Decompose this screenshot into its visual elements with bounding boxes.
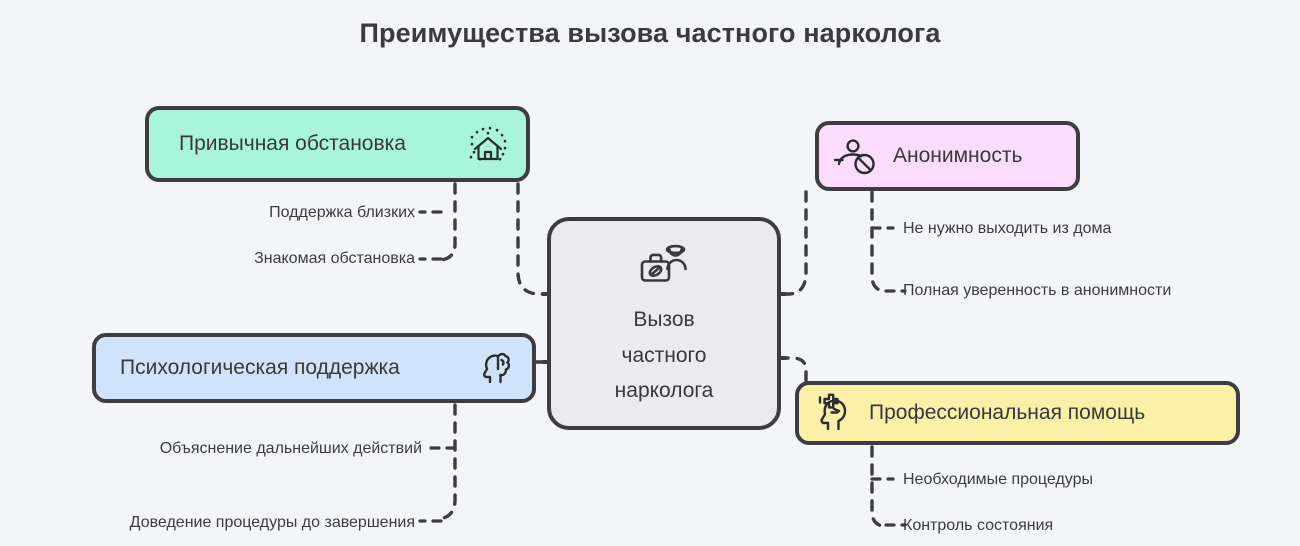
house-sparkle-icon: [466, 122, 510, 166]
leaf-habitual-2: Знакомая обстановка: [60, 249, 415, 268]
central-label-line2: частного: [622, 341, 707, 371]
leaf-psych-2: Доведение процедуры до завершения: [20, 513, 415, 532]
connector-prof-to-center: [780, 358, 806, 381]
connector-habitual-leaves: [441, 184, 455, 260]
branch-node-prof[interactable]: Профессиональная помощь: [795, 381, 1240, 445]
branch-node-anonymity[interactable]: Анонимность: [815, 121, 1080, 191]
leaf-anonymity-1: Не нужно выходить из дома: [903, 219, 1111, 238]
leaf-prof-1: Необходимые процедуры: [903, 470, 1093, 489]
connector-prof-leaves: [872, 447, 886, 527]
branch-label-anonymity: Анонимность: [893, 144, 1022, 167]
leaf-habitual-1: Поддержка близких: [60, 203, 415, 222]
branch-label-prof: Профессиональная помощь: [869, 401, 1145, 424]
branch-label-habitual: Привычная обстановка: [179, 132, 406, 155]
branch-label-psych: Психологическая поддержка: [120, 356, 400, 379]
head-medical-cross-icon: [811, 392, 857, 434]
page-title: Преимущества вызова частного нарколога: [0, 18, 1300, 49]
central-node[interactable]: Вызов частного нарколога: [547, 217, 781, 430]
person-prohibited-icon: [833, 136, 879, 176]
leaf-prof-2: Контроль состояния: [903, 516, 1053, 535]
connector-anonymity-to-center: [780, 192, 806, 294]
central-label-line3: нарколога: [615, 376, 714, 406]
mindmap-canvas: Преимущества вызова частного нарколога: [0, 0, 1300, 546]
connector-anonymity-leaves: [872, 192, 886, 292]
connector-habitual-to-center: [518, 184, 548, 294]
connector-psych-leaves: [440, 405, 455, 519]
branch-node-habitual[interactable]: Привычная обстановка: [145, 106, 530, 182]
leaf-psych-1: Объяснение дальнейших действий: [20, 439, 422, 458]
branch-node-psych[interactable]: Психологическая поддержка: [92, 333, 536, 403]
leaf-anonymity-2: Полная уверенность в анонимности: [903, 281, 1171, 300]
head-brain-icon: [474, 347, 518, 389]
central-label-line1: Вызов: [633, 305, 694, 335]
doctor-bag-icon: [633, 241, 695, 293]
